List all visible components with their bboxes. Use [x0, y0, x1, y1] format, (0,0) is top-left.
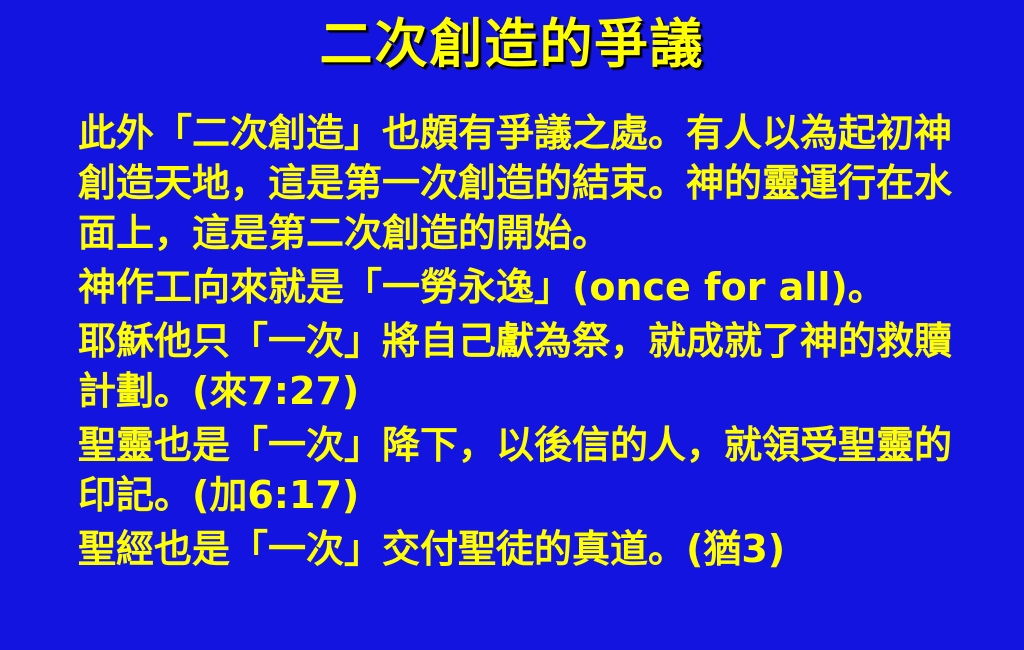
body-paragraph-4: 聖靈也是「一次」降下，以後信的人，就領受聖靈的印記。(加6:17): [78, 420, 978, 520]
slide-canvas: 二次創造的爭議 此外「二次創造」也頗有爭議之處。有人以為起初神創造天地，這是第一…: [0, 0, 1024, 650]
page-title: 二次創造的爭議: [0, 14, 1024, 76]
body-paragraph-3: 耶穌他只「一次」將自己獻為祭，就成就了神的救贖計劃。(來7:27): [78, 316, 978, 416]
slide-body: 此外「二次創造」也頗有爭議之處。有人以為起初神創造天地，這是第一次創造的結束。神…: [78, 108, 978, 576]
body-paragraph-5: 聖經也是「一次」交付聖徒的真道。(猶3): [78, 524, 978, 574]
body-paragraph-2: 神作工向來就是「一勞永逸」(once for all)。: [78, 262, 978, 312]
body-paragraph-1: 此外「二次創造」也頗有爭議之處。有人以為起初神創造天地，這是第一次創造的結束。神…: [78, 108, 978, 258]
